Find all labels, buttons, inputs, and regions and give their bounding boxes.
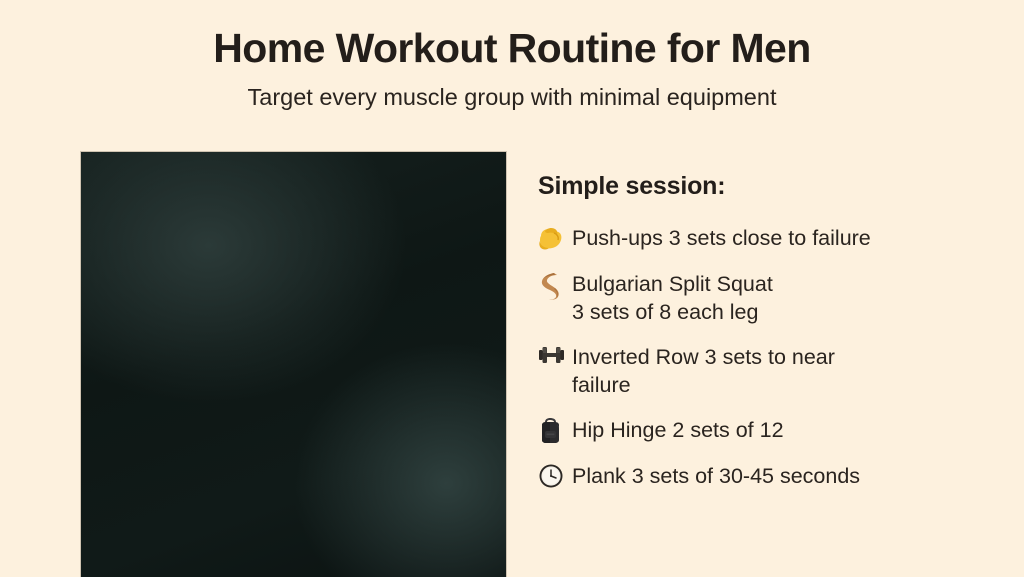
session-panel: Simple session: Push-ups 3 sets close to…: [538, 172, 1008, 508]
list-item: Plank 3 sets of 30-45 seconds: [538, 462, 1008, 492]
list-item-text: Bulgarian Split Squat 3 sets of 8 each l…: [572, 270, 773, 327]
page-subtitle: Target every muscle group with minimal e…: [0, 83, 1024, 111]
clock-icon: [538, 462, 572, 492]
dumbbell-icon: [538, 343, 572, 373]
flexed-biceps-icon: [538, 224, 572, 254]
list-item: Bulgarian Split Squat 3 sets of 8 each l…: [538, 270, 1008, 327]
slide-canvas: Home Workout Routine for Men Target ever…: [0, 0, 1024, 577]
list-item: Hip Hinge 2 sets of 12: [538, 416, 1008, 446]
photo-background: [81, 152, 506, 577]
workout-photo: [81, 152, 506, 577]
list-item-text: Inverted Row 3 sets to near failure: [572, 343, 835, 400]
backpack-icon: [538, 416, 572, 446]
leg-icon: [538, 270, 572, 300]
page-title: Home Workout Routine for Men: [0, 26, 1024, 72]
list-item: Push-ups 3 sets close to failure: [538, 224, 1008, 254]
list-item-text: Hip Hinge 2 sets of 12: [572, 416, 784, 445]
session-heading: Simple session:: [538, 172, 1008, 201]
header: Home Workout Routine for Men Target ever…: [0, 26, 1024, 111]
list-item-text: Push-ups 3 sets close to failure: [572, 224, 871, 253]
list-item-text: Plank 3 sets of 30-45 seconds: [572, 462, 860, 491]
list-item: Inverted Row 3 sets to near failure: [538, 343, 1008, 400]
